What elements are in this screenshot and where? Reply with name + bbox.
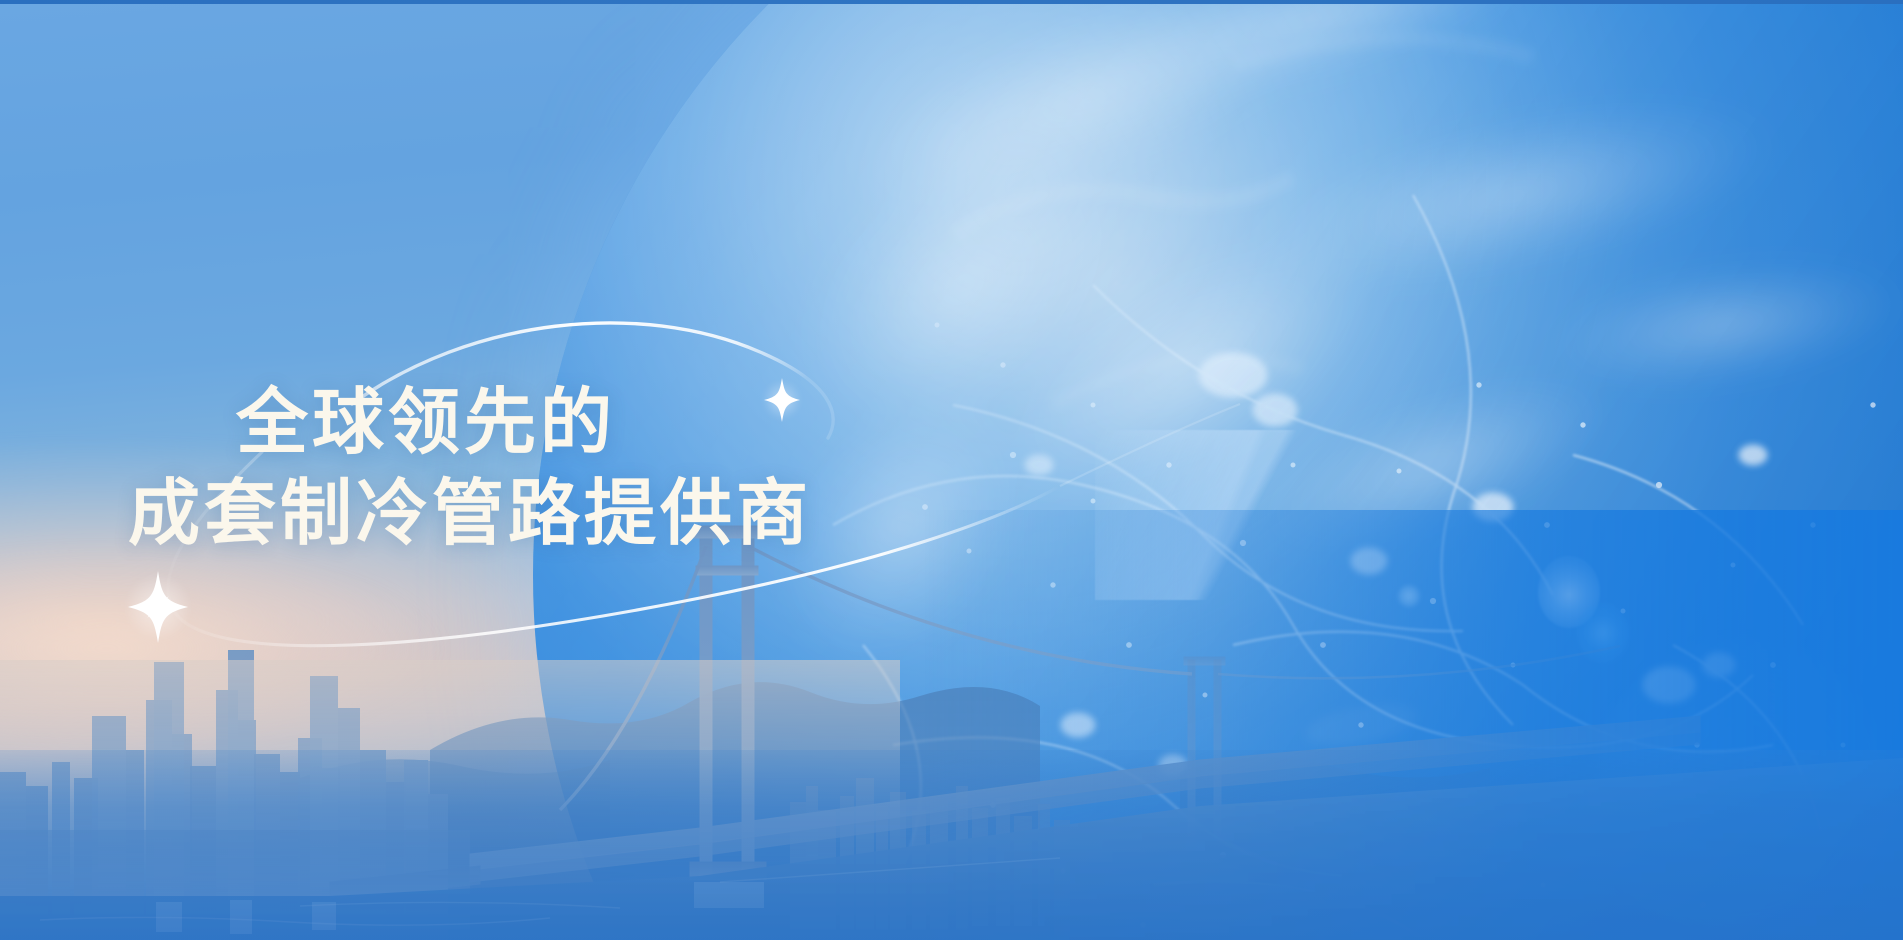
top-accent-strip <box>0 0 1903 4</box>
headline-line-1: 全球领先的 <box>236 378 812 469</box>
cityscape-photo-layer <box>0 510 1903 940</box>
hero-headline: 全球领先的 成套制冷管路提供商 <box>128 378 812 559</box>
hero-banner: 全球领先的 成套制冷管路提供商 <box>0 0 1903 940</box>
headline-line-2: 成套制冷管路提供商 <box>128 469 812 560</box>
city-haze <box>0 660 900 850</box>
